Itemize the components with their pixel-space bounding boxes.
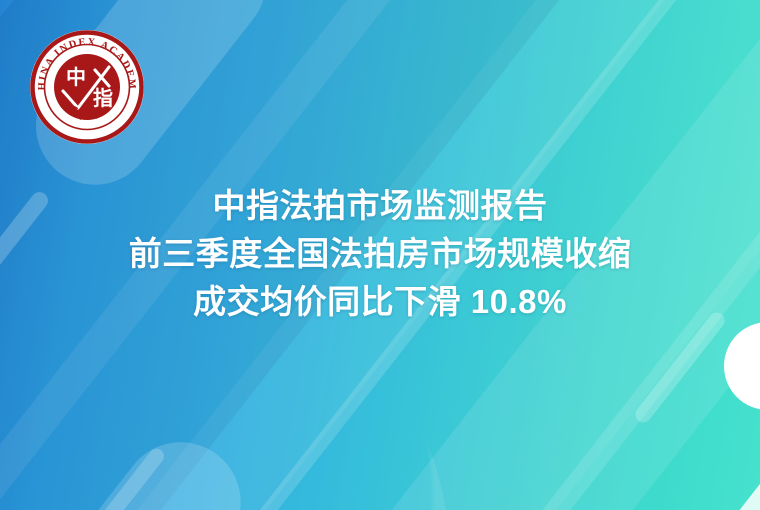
decorative-white-circle (724, 322, 760, 410)
rounded-band-mint-bottom-right (648, 430, 760, 510)
thin-stripe-middle (72, 446, 167, 510)
china-index-academy-logo: 中 指 CHINA INDEX ACADEMY 研究院 (29, 29, 145, 145)
report-cover-banner: 中 指 CHINA INDEX ACADEMY 研究院 中指法拍市场监测报告 前… (0, 0, 760, 510)
title-line-2: 前三季度全国法拍房市场规模收缩 (26, 230, 734, 278)
banner-title-block: 中指法拍市场监测报告 前三季度全国法拍房市场规模收缩 成交均价同比下滑 10.8… (0, 182, 760, 326)
thin-stripe-right (632, 309, 728, 425)
logo-char-zhong: 中 (66, 65, 86, 89)
rounded-band-bottom-left (0, 418, 265, 510)
title-line-3: 成交均价同比下滑 10.8% (26, 278, 734, 326)
title-line-1: 中指法拍市场监测报告 (26, 182, 734, 230)
